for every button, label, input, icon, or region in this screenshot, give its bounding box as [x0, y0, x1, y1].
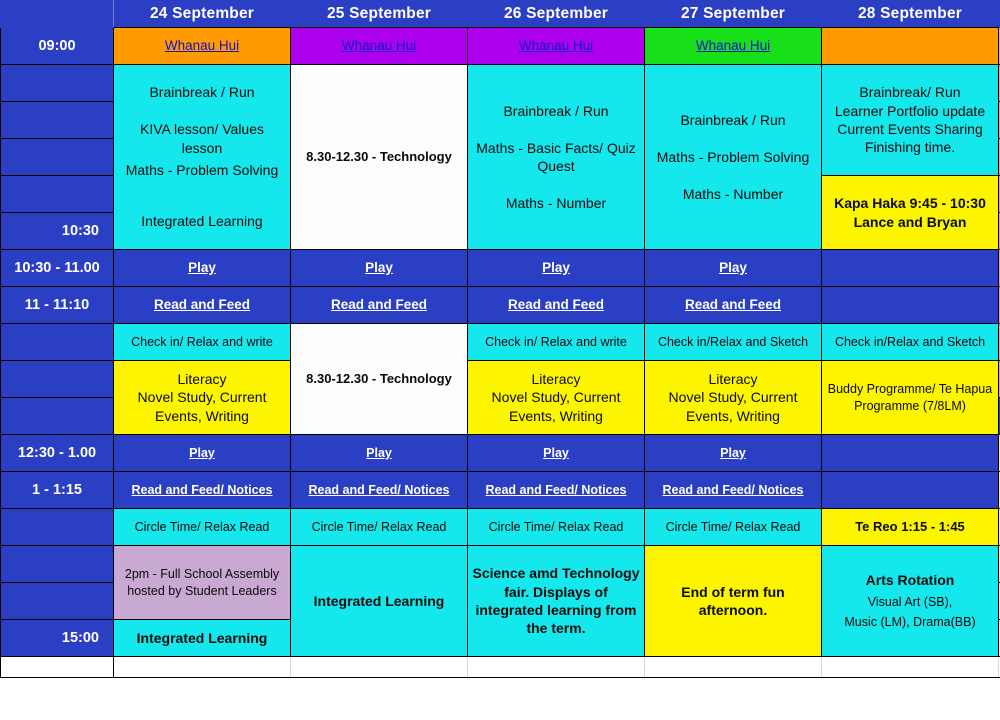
cell-fri-arts-rotation[interactable]: Arts Rotation Visual Art (SB), Music (LM…: [822, 546, 999, 657]
wed-brainbreak: Brainbreak / Run: [468, 100, 644, 122]
read-and-feed-link-wed[interactable]: Read and Feed: [468, 294, 644, 316]
read-and-feed-link-thu[interactable]: Read and Feed: [645, 294, 821, 316]
cell-thu-literacy[interactable]: Literacy Novel Study, Current Events, Wr…: [645, 361, 822, 435]
table-row: 1 - 1:15 Read and Feed/ Notices Read and…: [1, 472, 1000, 509]
cell-thu-whanau-hui[interactable]: Whanau Hui: [645, 28, 822, 65]
whanau-hui-link-tue[interactable]: Whanau Hui: [291, 35, 467, 57]
bottom-strip-fri: [822, 657, 999, 678]
time-label-blank-2: [1, 65, 114, 102]
literacy-thu: Literacy Novel Study, Current Events, Wr…: [645, 368, 821, 427]
table-bottom-strip: [1, 657, 1000, 678]
te-reo-fri: Te Reo 1:15 - 1:45: [822, 516, 998, 537]
read-notices-wed[interactable]: Read and Feed/ Notices: [468, 480, 644, 501]
cell-fri-read-and-feed-empty[interactable]: [822, 287, 999, 324]
cell-mon-integrated-learning[interactable]: Integrated Learning: [114, 620, 291, 657]
read-and-feed-link-tue[interactable]: Read and Feed: [291, 294, 467, 316]
cell-mon-read-notices[interactable]: Read and Feed/ Notices: [114, 472, 291, 509]
read-and-feed-link-mon[interactable]: Read and Feed: [114, 294, 290, 316]
time-label-blank-9: [1, 324, 114, 361]
cell-thu-morning-block[interactable]: Brainbreak / Run Maths - Problem Solving…: [645, 65, 822, 250]
thu-maths-problem-solving: Maths - Problem Solving: [645, 146, 821, 168]
bottom-strip-time: [1, 657, 114, 678]
day-header-27-september: 27 September: [645, 1, 822, 28]
time-label-1030-1100: 10:30 - 11.00: [1, 250, 114, 287]
cell-fri-kapa-haka[interactable]: Kapa Haka 9:45 - 10:30 Lance and Bryan: [822, 176, 999, 250]
table-row: Check in/ Relax and write 8.30-12.30 - T…: [1, 324, 1000, 361]
whanau-hui-link-wed[interactable]: Whanau Hui: [468, 35, 644, 57]
time-label-1500: 15:00: [1, 620, 114, 657]
mon-brainbreak: Brainbreak / Run: [114, 81, 290, 103]
time-label-blank-4: [1, 139, 114, 176]
cell-thu-play[interactable]: Play: [645, 250, 822, 287]
cell-wed-read-and-feed[interactable]: Read and Feed: [468, 287, 645, 324]
integrated-learning-mon: Integrated Learning: [114, 627, 290, 649]
cell-mon-morning-block[interactable]: Brainbreak / Run KIVA lesson/ Values les…: [114, 65, 291, 250]
science-fair-wed: Science amd Technology fair. Displays of…: [468, 562, 644, 640]
integrated-learning-tue: Integrated Learning: [291, 590, 467, 612]
fri-kapa-haka-text: Kapa Haka 9:45 - 10:30 Lance and Bryan: [822, 192, 998, 233]
table-row: 09:00 Whanau Hui Whanau Hui Whanau Hui W…: [1, 28, 1000, 65]
read-notices-mon[interactable]: Read and Feed/ Notices: [114, 480, 290, 501]
cell-wed-literacy[interactable]: Literacy Novel Study, Current Events, Wr…: [468, 361, 645, 435]
table-header-row: 24 September 25 September 26 September 2…: [1, 1, 1000, 28]
mon-maths-problem-solving: Maths - Problem Solving: [114, 159, 290, 181]
day-header-25-september: 25 September: [291, 1, 468, 28]
cell-fri-morning-block[interactable]: Brainbreak/ Run Learner Portfolio update…: [822, 65, 999, 176]
circle-time-wed: Circle Time/ Relax Read: [468, 517, 644, 538]
mon-kiva-values: KIVA lesson/ Values lesson: [114, 118, 290, 159]
arts-rotation-visual-art: Visual Art (SB),: [822, 592, 998, 613]
cell-tue-play[interactable]: Play: [291, 250, 468, 287]
whanau-hui-link-mon[interactable]: Whanau Hui: [114, 35, 290, 57]
play-link-thu[interactable]: Play: [645, 257, 821, 279]
cell-wed-science-fair[interactable]: Science amd Technology fair. Displays of…: [468, 546, 645, 657]
cell-mon-assembly[interactable]: 2pm - Full School Assembly hosted by Stu…: [114, 546, 291, 620]
time-label-blank-3: [1, 102, 114, 139]
read-notices-tue[interactable]: Read and Feed/ Notices: [291, 480, 467, 501]
cell-tue-integrated-learning[interactable]: Integrated Learning: [291, 546, 468, 657]
cell-mon-play-2[interactable]: Play: [114, 435, 291, 472]
tue-technology-label-2: 8.30-12.30 - Technology: [291, 368, 467, 389]
bottom-strip-mon: [114, 657, 291, 678]
check-in-mon: Check in/ Relax and write: [114, 332, 290, 353]
cell-tue-technology-midday[interactable]: 8.30-12.30 - Technology: [291, 324, 468, 435]
time-label-blank-5: [1, 176, 114, 213]
bottom-strip-tue: [291, 657, 468, 678]
arts-rotation-title: Arts Rotation: [822, 569, 998, 591]
timetable-sheet: 24 September 25 September 26 September 2…: [0, 0, 1000, 720]
whanau-hui-link-thu[interactable]: Whanau Hui: [645, 35, 821, 57]
buddy-programme-fri: Buddy Programme/ Te Hapua Programme (7/8…: [822, 379, 998, 416]
literacy-wed: Literacy Novel Study, Current Events, Wr…: [468, 368, 644, 427]
table-row: 10:30 - 11.00 Play Play Play Play: [1, 250, 1000, 287]
fri-morning-text: Brainbreak/ Run Learner Portfolio update…: [822, 81, 998, 159]
cell-tue-read-and-feed[interactable]: Read and Feed: [291, 287, 468, 324]
day-header-28-september: 28 September: [822, 1, 999, 28]
cell-mon-literacy[interactable]: Literacy Novel Study, Current Events, Wr…: [114, 361, 291, 435]
cell-fri-whanau-hui-empty[interactable]: [822, 28, 999, 65]
cell-fri-play-2-empty[interactable]: [822, 435, 999, 472]
header-corner: [1, 1, 114, 28]
table-row: Brainbreak / Run KIVA lesson/ Values les…: [1, 65, 1000, 102]
literacy-mon: Literacy Novel Study, Current Events, Wr…: [114, 368, 290, 427]
bottom-strip-wed: [468, 657, 645, 678]
table-row: 11 - 11:10 Read and Feed Read and Feed R…: [1, 287, 1000, 324]
time-label-blank-14: [1, 509, 114, 546]
time-label-blank-15: [1, 546, 114, 583]
cell-wed-check-in[interactable]: Check in/ Relax and write: [468, 324, 645, 361]
cell-fri-play-empty[interactable]: [822, 250, 999, 287]
wed-maths-basic-facts: Maths - Basic Facts/ Quiz Quest: [468, 137, 644, 178]
play-link-mon[interactable]: Play: [114, 257, 290, 279]
table-row: 2pm - Full School Assembly hosted by Stu…: [1, 546, 1000, 583]
cell-fri-te-reo[interactable]: Te Reo 1:15 - 1:45: [822, 509, 999, 546]
cell-fri-read-notices-empty[interactable]: [822, 472, 999, 509]
wed-maths-number: Maths - Number: [468, 192, 644, 214]
assembly-mon: 2pm - Full School Assembly hosted by Stu…: [114, 564, 290, 601]
play-link-wed[interactable]: Play: [468, 257, 644, 279]
time-label-1030: 10:30: [1, 213, 114, 250]
thu-maths-number: Maths - Number: [645, 183, 821, 205]
weekly-timetable: 24 September 25 September 26 September 2…: [0, 0, 1000, 678]
cell-tue-technology-morning[interactable]: 8.30-12.30 - Technology: [291, 65, 468, 250]
play-link-wed-2[interactable]: Play: [468, 443, 644, 464]
time-label-blank-11: [1, 398, 114, 435]
cell-wed-circle-time[interactable]: Circle Time/ Relax Read: [468, 509, 645, 546]
cell-wed-play-2[interactable]: Play: [468, 435, 645, 472]
cell-thu-read-and-feed[interactable]: Read and Feed: [645, 287, 822, 324]
cell-fri-check-in[interactable]: Check in/Relax and Sketch: [822, 324, 999, 361]
cell-wed-whanau-hui[interactable]: Whanau Hui: [468, 28, 645, 65]
time-label-0900: 09:00: [1, 28, 114, 65]
cell-wed-morning-block[interactable]: Brainbreak / Run Maths - Basic Facts/ Qu…: [468, 65, 645, 250]
cell-tue-play-2[interactable]: Play: [291, 435, 468, 472]
mon-integrated-learning: Integrated Learning: [114, 210, 290, 232]
cell-thu-end-of-term[interactable]: End of term fun afternoon.: [645, 546, 822, 657]
cell-fri-buddy-programme[interactable]: Buddy Programme/ Te Hapua Programme (7/8…: [822, 361, 999, 435]
play-link-tue[interactable]: Play: [291, 257, 467, 279]
tue-technology-label: 8.30-12.30 - Technology: [291, 146, 467, 167]
cell-thu-play-2[interactable]: Play: [645, 435, 822, 472]
cell-thu-check-in[interactable]: Check in/Relax and Sketch: [645, 324, 822, 361]
time-label-1-115: 1 - 1:15: [1, 472, 114, 509]
cell-tue-whanau-hui[interactable]: Whanau Hui: [291, 28, 468, 65]
bottom-strip-thu: [645, 657, 822, 678]
cell-mon-whanau-hui[interactable]: Whanau Hui: [114, 28, 291, 65]
time-label-blank-10: [1, 361, 114, 398]
check-in-wed: Check in/ Relax and write: [468, 332, 644, 353]
time-label-11-1110: 11 - 11:10: [1, 287, 114, 324]
table-row: Literacy Novel Study, Current Events, Wr…: [1, 361, 1000, 398]
arts-rotation-music-drama: Music (LM), Drama(BB): [822, 612, 998, 633]
circle-time-mon: Circle Time/ Relax Read: [114, 517, 290, 538]
cell-tue-circle-time[interactable]: Circle Time/ Relax Read: [291, 509, 468, 546]
cell-wed-play[interactable]: Play: [468, 250, 645, 287]
cell-mon-circle-time[interactable]: Circle Time/ Relax Read: [114, 509, 291, 546]
cell-mon-check-in[interactable]: Check in/ Relax and write: [114, 324, 291, 361]
table-row: Circle Time/ Relax Read Circle Time/ Rel…: [1, 509, 1000, 546]
time-label-1230-100: 12:30 - 1.00: [1, 435, 114, 472]
check-in-thu: Check in/Relax and Sketch: [645, 332, 821, 353]
play-link-tue-2[interactable]: Play: [291, 443, 467, 464]
thu-brainbreak: Brainbreak / Run: [645, 109, 821, 131]
cell-mon-read-and-feed[interactable]: Read and Feed: [114, 287, 291, 324]
circle-time-thu: Circle Time/ Relax Read: [645, 517, 821, 538]
play-link-mon-2[interactable]: Play: [114, 443, 290, 464]
time-label-blank-16: [1, 583, 114, 620]
read-notices-thu[interactable]: Read and Feed/ Notices: [645, 480, 821, 501]
day-header-26-september: 26 September: [468, 1, 645, 28]
table-row: 12:30 - 1.00 Play Play Play Play: [1, 435, 1000, 472]
cell-thu-read-notices[interactable]: Read and Feed/ Notices: [645, 472, 822, 509]
circle-time-tue: Circle Time/ Relax Read: [291, 517, 467, 538]
day-header-24-september: 24 September: [114, 1, 291, 28]
end-of-term-thu: End of term fun afternoon.: [645, 581, 821, 622]
check-in-fri: Check in/Relax and Sketch: [822, 332, 998, 353]
cell-wed-read-notices[interactable]: Read and Feed/ Notices: [468, 472, 645, 509]
cell-tue-read-notices[interactable]: Read and Feed/ Notices: [291, 472, 468, 509]
cell-thu-circle-time[interactable]: Circle Time/ Relax Read: [645, 509, 822, 546]
cell-mon-play[interactable]: Play: [114, 250, 291, 287]
play-link-thu-2[interactable]: Play: [645, 443, 821, 464]
